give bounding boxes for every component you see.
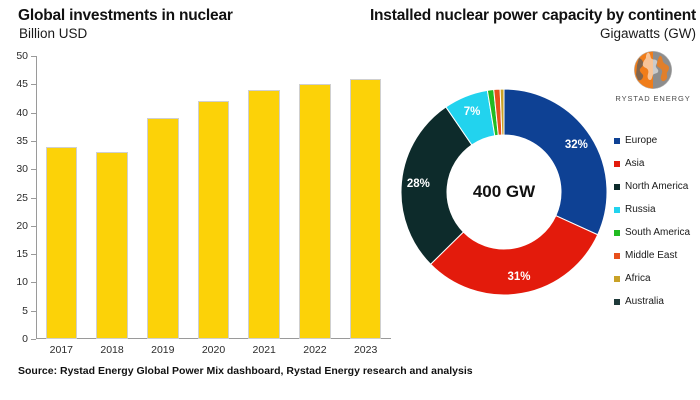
y-axis-tick-mark (31, 169, 36, 170)
brand-logo-text: RYSTAD ENERGY (612, 94, 694, 103)
y-axis-tick-mark (31, 198, 36, 199)
legend-item-label: Europe (625, 135, 657, 146)
infographic-root: Global investments in nuclear Billion US… (0, 0, 700, 400)
legend-swatch-icon (614, 207, 620, 213)
donut-center-label: 400 GW (473, 182, 535, 202)
bar-chart-plot-area: 05101520253035404550 2017201820192020202… (36, 56, 391, 339)
x-axis-tick-label: 2019 (151, 344, 174, 356)
y-axis-tick-label: 50 (16, 50, 28, 62)
y-axis-tick-label: 30 (16, 163, 28, 175)
y-axis-tick-mark (31, 226, 36, 227)
legend-item-label: Asia (625, 158, 644, 169)
legend-item-label: Russia (625, 204, 656, 215)
y-axis-tick-mark (31, 141, 36, 142)
x-axis-tick-label: 2017 (50, 344, 73, 356)
y-axis-tick-mark (31, 84, 36, 85)
y-axis-tick-mark (31, 56, 36, 57)
x-axis-tick-label: 2021 (253, 344, 276, 356)
legend-item[interactable]: South America (614, 221, 700, 244)
legend-item[interactable]: Asia (614, 152, 700, 175)
donut-chart-title: Installed nuclear power capacity by cont… (316, 7, 696, 25)
bar-chart-title: Global investments in nuclear (18, 7, 233, 25)
y-axis-tick-label: 15 (16, 248, 28, 260)
legend-item[interactable]: Europe (614, 129, 700, 152)
bar (46, 147, 77, 339)
x-axis-tick-label: 2022 (303, 344, 326, 356)
legend-swatch-icon (614, 161, 620, 167)
legend-item[interactable]: Middle East (614, 244, 700, 267)
x-axis-tick-label: 2020 (202, 344, 225, 356)
donut-chart-panel: Installed nuclear power capacity by cont… (400, 0, 700, 400)
legend-item[interactable]: Australia (614, 290, 700, 313)
y-axis-tick-label: 5 (22, 305, 28, 317)
bar (147, 118, 178, 339)
bar (248, 90, 279, 339)
bar-chart-panel: Global investments in nuclear Billion US… (0, 0, 400, 400)
bar (96, 152, 127, 339)
y-axis-tick-label: 20 (16, 220, 28, 232)
bar (198, 101, 229, 339)
rystad-energy-globe-icon (631, 48, 675, 92)
y-axis-tick-mark (31, 339, 36, 340)
legend-swatch-icon (614, 253, 620, 259)
legend-item-label: Middle East (625, 250, 677, 261)
legend-swatch-icon (614, 138, 620, 144)
y-axis-tick-mark (31, 282, 36, 283)
legend-item-label: North America (625, 181, 688, 192)
x-axis-tick-label: 2023 (354, 344, 377, 356)
y-axis-tick-label: 40 (16, 107, 28, 119)
y-axis-tick-label: 45 (16, 78, 28, 90)
y-axis-tick-label: 10 (16, 276, 28, 288)
donut-chart-subtitle: Gigawatts (GW) (316, 26, 696, 41)
legend-swatch-icon (614, 230, 620, 236)
legend-swatch-icon (614, 276, 620, 282)
y-axis-tick-label: 0 (22, 333, 28, 345)
donut-chart: 32%31%28%7% 400 GW (398, 86, 610, 298)
donut-slice (504, 89, 607, 235)
y-axis-tick-label: 25 (16, 192, 28, 204)
y-axis-line (36, 56, 37, 339)
donut-legend: EuropeAsiaNorth AmericaRussiaSouth Ameri… (614, 129, 700, 313)
legend-item-label: Africa (625, 273, 651, 284)
x-axis-tick-label: 2018 (100, 344, 123, 356)
legend-item[interactable]: Russia (614, 198, 700, 221)
legend-item-label: Australia (625, 296, 664, 307)
y-axis-tick-mark (31, 113, 36, 114)
brand-logo: RYSTAD ENERGY (612, 48, 694, 103)
bar (299, 84, 330, 339)
y-axis-tick-mark (31, 254, 36, 255)
legend-swatch-icon (614, 299, 620, 305)
legend-item[interactable]: Africa (614, 267, 700, 290)
legend-swatch-icon (614, 184, 620, 190)
bar (350, 79, 381, 339)
legend-item-label: South America (625, 227, 690, 238)
y-axis-tick-label: 35 (16, 135, 28, 147)
legend-item[interactable]: North America (614, 175, 700, 198)
bar-chart-subtitle: Billion USD (19, 26, 87, 41)
y-axis-tick-mark (31, 311, 36, 312)
